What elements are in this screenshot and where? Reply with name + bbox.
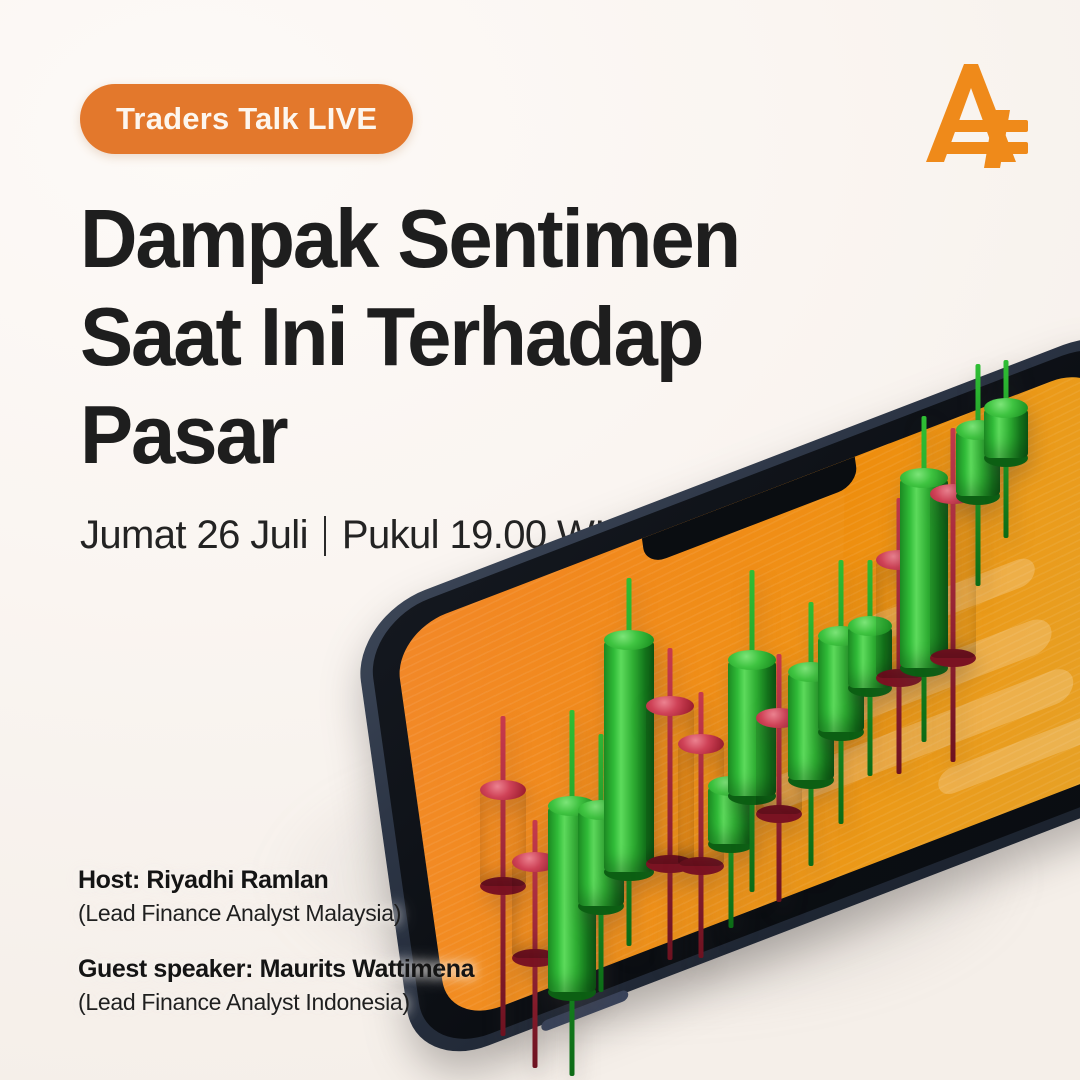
live-badge: Traders Talk LIVE bbox=[80, 84, 413, 154]
page-title: Dampak Sentimen Saat Ini Terhadap Pasar bbox=[80, 190, 790, 484]
event-date: Jumat 26 Juli bbox=[80, 513, 308, 558]
headline-line-2: Saat Ini Terhadap bbox=[80, 288, 790, 386]
host-role: (Lead Finance Analyst Malaysia) bbox=[78, 900, 474, 927]
live-badge-label: Traders Talk LIVE bbox=[116, 101, 377, 137]
headline-line-3: Pasar bbox=[80, 386, 790, 484]
guest-role: (Lead Finance Analyst Indonesia) bbox=[78, 989, 474, 1016]
speaker-credits: Host: Riyadhi Ramlan (Lead Finance Analy… bbox=[78, 866, 474, 1016]
schedule-separator bbox=[324, 516, 326, 556]
headline-line-1: Dampak Sentimen bbox=[80, 190, 790, 288]
host-name: Host: Riyadhi Ramlan bbox=[78, 866, 474, 895]
credit-guest: Guest speaker: Maurits Wattimena (Lead F… bbox=[78, 955, 474, 1016]
promo-poster: Traders Talk LIVE Dampak Sentimen Saat I… bbox=[0, 0, 1080, 1080]
credit-host: Host: Riyadhi Ramlan (Lead Finance Analy… bbox=[78, 866, 474, 927]
guest-name: Guest speaker: Maurits Wattimena bbox=[78, 955, 474, 984]
ascendex-a-logo bbox=[920, 58, 1032, 168]
